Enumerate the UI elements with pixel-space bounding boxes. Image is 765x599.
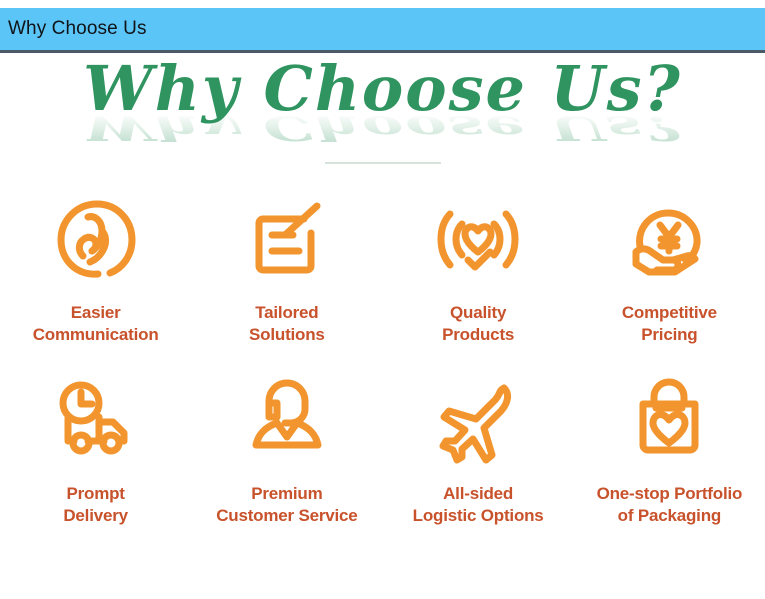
feature-row-2: Prompt Delivery Premium Customer Service… xyxy=(0,373,765,528)
feature-item-tailored-solutions[interactable]: Tailored Solutions xyxy=(191,192,382,347)
feature-item-all-sided-logistic-options[interactable]: All-sided Logistic Options xyxy=(383,373,574,528)
ear-listening-icon xyxy=(48,192,144,288)
heart-check-signal-icon xyxy=(430,192,526,288)
feature-item-quality-products[interactable]: Quality Products xyxy=(383,192,574,347)
document-pencil-icon xyxy=(239,192,335,288)
feature-label: Easier Communication xyxy=(33,302,159,347)
hand-coin-yen-icon xyxy=(621,192,717,288)
hero-banner: Why Choose Us? Why Choose Us? xyxy=(0,56,765,166)
feature-label: Tailored Solutions xyxy=(249,302,325,347)
hero-divider xyxy=(325,162,441,164)
feature-label: Premium Customer Service xyxy=(216,483,357,528)
feature-item-competitive-pricing[interactable]: Competitive Pricing xyxy=(574,192,765,347)
feature-item-prompt-delivery[interactable]: Prompt Delivery xyxy=(0,373,191,528)
airplane-icon xyxy=(430,373,526,469)
feature-item-one-stop-portfolio[interactable]: One-stop Portfolio of Packaging xyxy=(574,373,765,528)
feature-label: Prompt Delivery xyxy=(63,483,128,528)
page-title: Why Choose Us? xyxy=(0,58,765,120)
window-header: Why Choose Us xyxy=(0,8,765,53)
feature-item-easier-communication[interactable]: Easier Communication xyxy=(0,192,191,347)
feature-row-1: Easier Communication Tailored Solutions xyxy=(0,192,765,347)
feature-item-premium-customer-service[interactable]: Premium Customer Service xyxy=(191,373,382,528)
feature-label: One-stop Portfolio of Packaging xyxy=(597,483,743,528)
window-title: Why Choose Us xyxy=(8,19,147,38)
headset-agent-icon xyxy=(239,373,335,469)
feature-label: All-sided Logistic Options xyxy=(413,483,544,528)
feature-label: Competitive Pricing xyxy=(622,302,717,347)
truck-clock-icon xyxy=(48,373,144,469)
feature-label: Quality Products xyxy=(442,302,514,347)
shopping-bag-heart-icon xyxy=(621,373,717,469)
page-content: Why Choose Us? Why Choose Us? Easier Com… xyxy=(0,56,765,599)
